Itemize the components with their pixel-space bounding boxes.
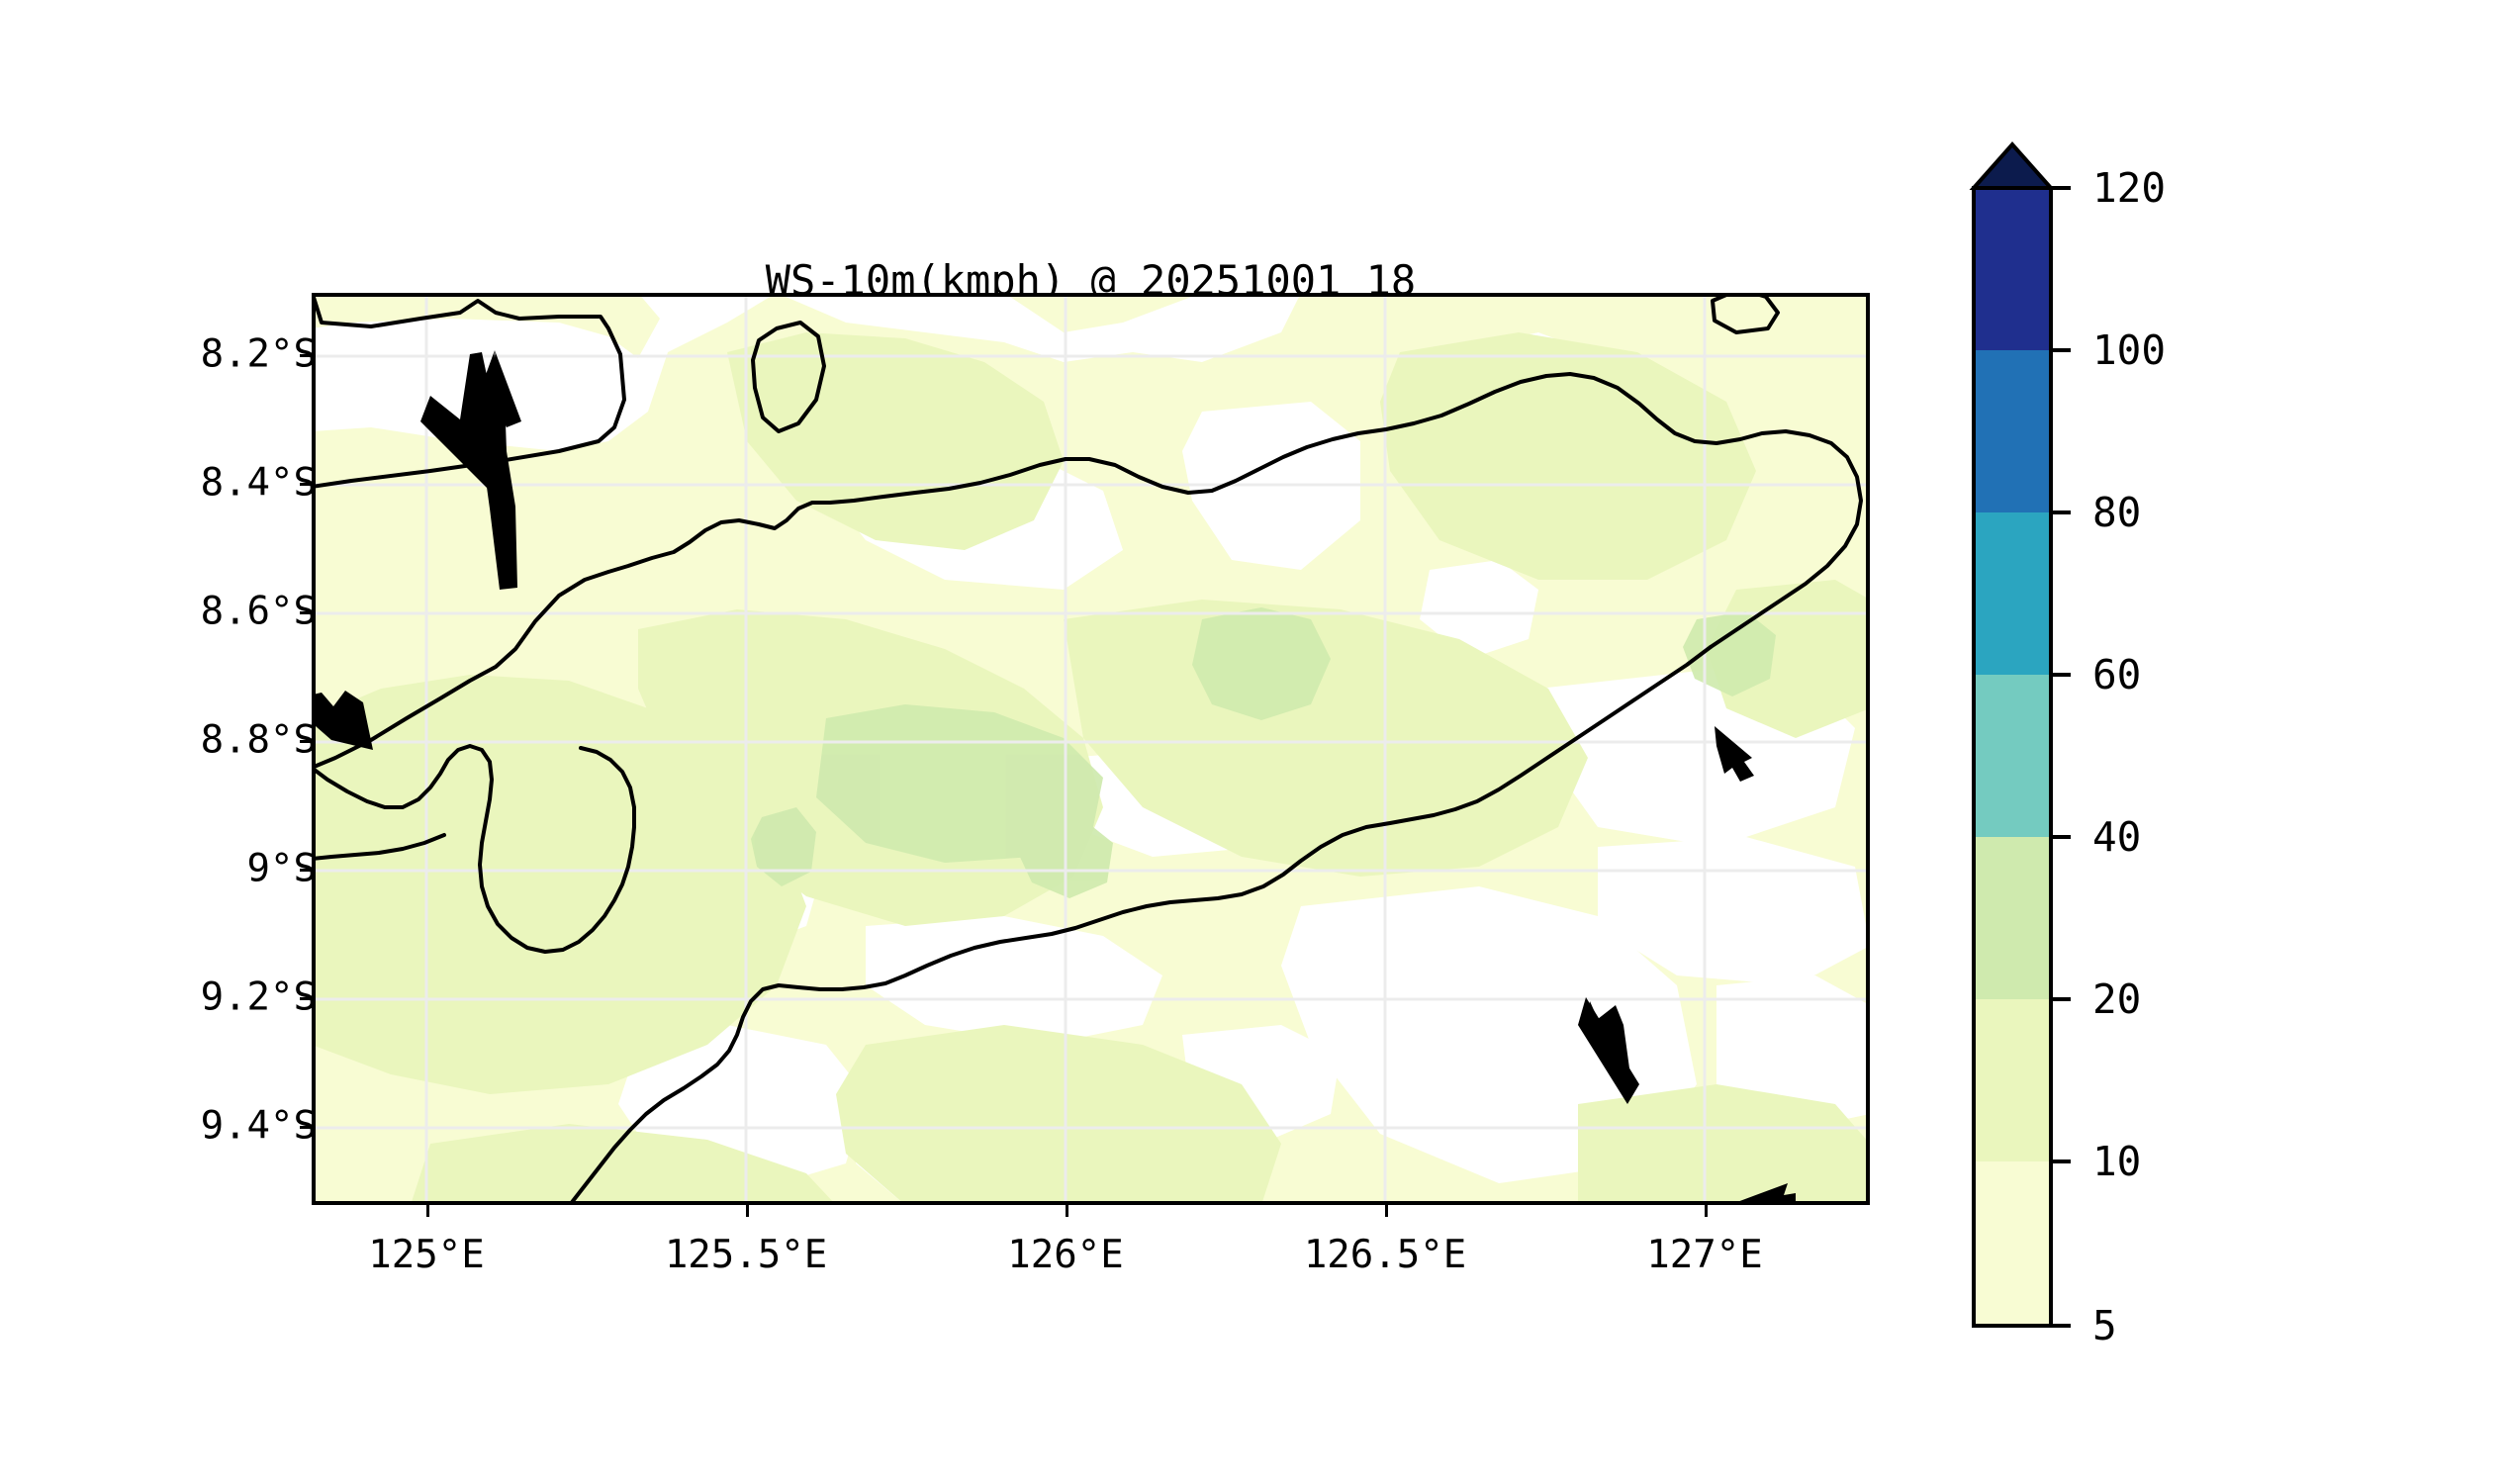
- xtick-mark-126: [1066, 1205, 1068, 1217]
- colorbar-label-80: 80: [2092, 489, 2141, 536]
- colorbar-tick-marks: [2051, 188, 2071, 1326]
- colorbar[interactable]: [1974, 188, 2051, 1326]
- colorbar-label-60: 60: [2092, 651, 2141, 698]
- xtick-label-126: 126°E: [917, 1233, 1214, 1277]
- ytick-label-9-0: 9°S: [20, 847, 317, 891]
- xtick-label-125: 125°E: [278, 1233, 575, 1277]
- colorbar-band-10-20: [1974, 999, 2051, 1161]
- xtick-label-125-5: 125.5°E: [598, 1233, 894, 1277]
- colorbar-band-40-60: [1974, 675, 2051, 837]
- xtick-mark-127: [1705, 1205, 1708, 1217]
- colorbar-label-120: 120: [2092, 164, 2166, 212]
- colorbar-svg: [1932, 131, 2092, 1383]
- figure-canvas: WS-10m(kmph) @ 20251001_18 Simulation Ti…: [0, 0, 2504, 1484]
- colorbar-label-10: 10: [2092, 1138, 2141, 1185]
- colorbar-label-100: 100: [2092, 326, 2166, 374]
- ytick-label-8-2: 8.2°S: [20, 332, 317, 377]
- ytick-label-9-4: 9.4°S: [20, 1104, 317, 1149]
- xtick-mark-125-5: [746, 1205, 749, 1217]
- colorbar-label-5: 5: [2092, 1302, 2117, 1349]
- map-plot-area: [312, 293, 1870, 1205]
- colorbar-band-20-40: [1974, 837, 2051, 999]
- map-axes: [312, 293, 1870, 1205]
- xtick-mark-125: [426, 1205, 429, 1217]
- ytick-label-8-8: 8.8°S: [20, 718, 317, 763]
- colorbar-band-60-80: [1974, 512, 2051, 675]
- colorbar-band-5-10: [1974, 1161, 2051, 1326]
- xtick-label-127: 127°E: [1556, 1233, 1853, 1277]
- xtick-mark-126-5: [1385, 1205, 1388, 1217]
- ytick-label-8-6: 8.6°S: [20, 590, 317, 634]
- colorbar-label-20: 20: [2092, 975, 2141, 1023]
- colorbar-band-100-120: [1974, 188, 2051, 350]
- ytick-label-9-2: 9.2°S: [20, 975, 317, 1020]
- xtick-label-126-5: 126.5°E: [1237, 1233, 1533, 1277]
- ytick-label-8-4: 8.4°S: [20, 461, 317, 506]
- colorbar-band-80-100: [1974, 350, 2051, 512]
- colorbar-label-40: 40: [2092, 813, 2141, 861]
- colorbar-extend-max: [1974, 144, 2051, 188]
